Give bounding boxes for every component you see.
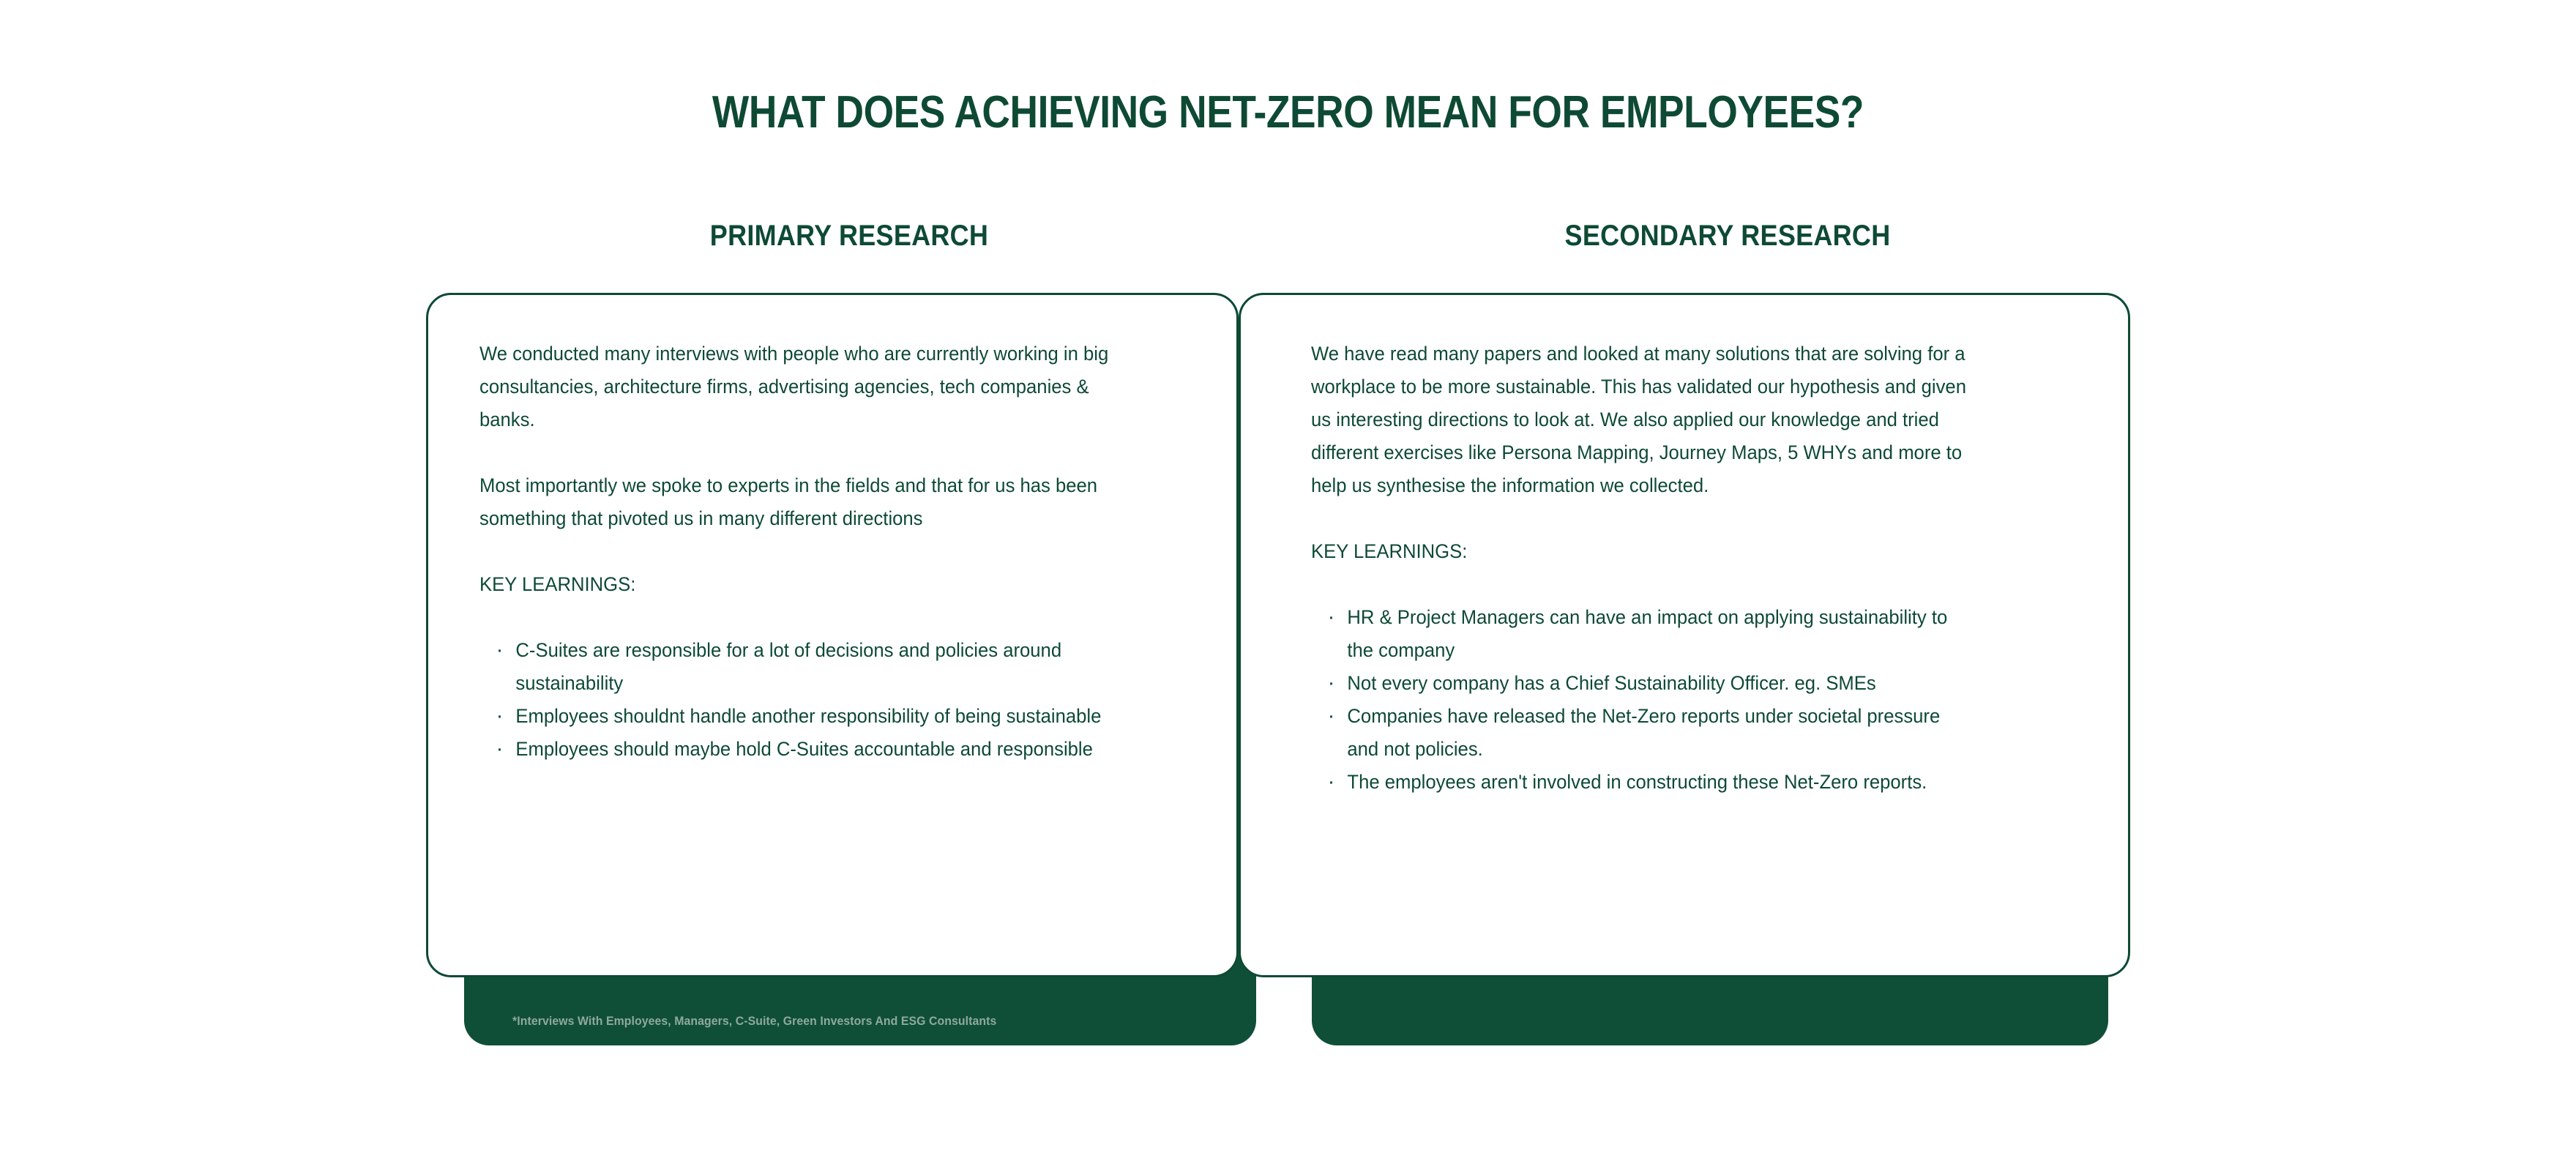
list-item: Not every company has a Chief Sustainabi… (1324, 667, 1971, 700)
secondary-research-card-body: We have read many papers and looked at m… (1241, 295, 2128, 799)
list-item: Companies have released the Net-Zero rep… (1324, 700, 1971, 766)
list-item: C-Suites are responsible for a lot of de… (492, 634, 1126, 700)
primary-research-card-wrapper: We conducted many interviews with people… (426, 293, 1239, 977)
key-learnings-label: KEY LEARNINGS: (479, 568, 1150, 601)
secondary-research-card: We have read many papers and looked at m… (1239, 293, 2130, 977)
footnote: *Interviews With Employees, Managers, C-… (512, 1014, 996, 1029)
list-item: Employees shouldnt handle another respon… (492, 700, 1126, 733)
paragraph: We have read many papers and looked at m… (1311, 337, 1972, 502)
paragraph: Most importantly we spoke to experts in … (479, 469, 1127, 535)
list-item: Employees should maybe hold C-Suites acc… (492, 733, 1126, 766)
primary-research-card: We conducted many interviews with people… (426, 293, 1239, 977)
secondary-research-card-wrapper: We have read many papers and looked at m… (1239, 293, 2130, 977)
page-title: WHAT DOES ACHIEVING NET-ZERO MEAN FOR EM… (180, 86, 2395, 138)
primary-research-card-body: We conducted many interviews with people… (428, 295, 1236, 766)
column-heading-primary-research: PRIMARY RESEARCH (493, 220, 1205, 253)
column-heading-secondary-research: SECONDARY RESEARCH (1372, 220, 2083, 253)
key-learnings-label: KEY LEARNINGS: (1311, 535, 2045, 568)
list-item: The employees aren't involved in constru… (1324, 766, 1971, 799)
slide-canvas: WHAT DOES ACHIEVING NET-ZERO MEAN FOR EM… (0, 0, 2576, 1175)
paragraph: We conducted many interviews with people… (479, 337, 1127, 436)
key-learnings-list: C-Suites are responsible for a lot of de… (479, 634, 1127, 766)
key-learnings-list: HR & Project Managers can have an impact… (1311, 601, 1972, 799)
list-item: HR & Project Managers can have an impact… (1324, 601, 1971, 667)
